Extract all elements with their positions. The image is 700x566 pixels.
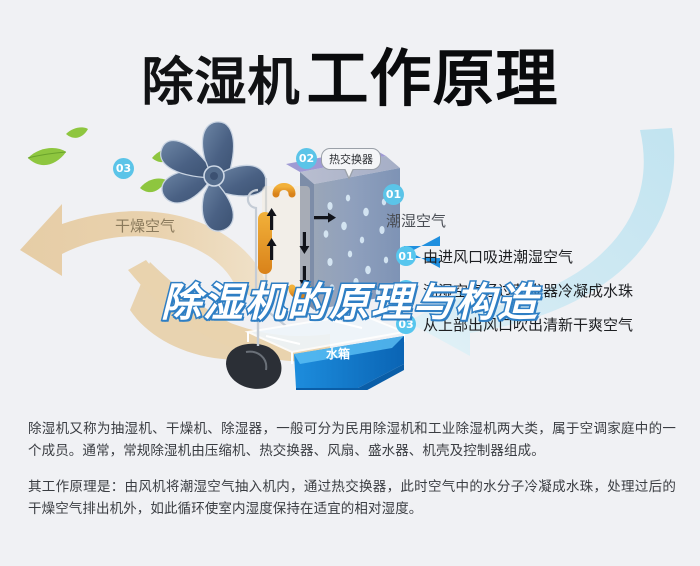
- body-copy: 除湿机又称为抽湿机、干燥机、除湿器，一般可分为民用除湿机和工业除湿机两大类，属于…: [28, 418, 676, 534]
- diagram-badge-02: 02: [296, 148, 317, 169]
- dry-air-label: 干燥空气: [115, 215, 175, 236]
- poster-root: 除湿机工作原理: [0, 0, 700, 566]
- water-tank-label: 水箱: [326, 345, 350, 362]
- humid-air-label: 潮湿空气: [386, 210, 446, 231]
- heat-exchanger-callout: 热交换器: [321, 148, 381, 170]
- page-title-part1: 除湿机: [141, 53, 300, 113]
- steps-list: 01 由进风口吸进潮湿空气 02 潮湿空气经过蒸发器冷凝成水珠 03 从上部出风…: [396, 246, 686, 348]
- step-text-03: 从上部出风口吹出清新干爽空气: [423, 314, 633, 335]
- page-title: 除湿机工作原理: [0, 28, 700, 118]
- step-number-03: 03: [396, 314, 416, 334]
- page-title-part2: 工作原理: [307, 42, 559, 115]
- step-number-02: 02: [396, 280, 416, 300]
- list-item: 01 由进风口吸进潮湿空气: [396, 246, 686, 266]
- paragraph-2: 其工作原理是：由风机将潮湿空气抽入机内，通过热交换器，此时空气中的水分子冷凝成水…: [28, 476, 676, 520]
- step-text-01: 由进风口吸进潮湿空气: [423, 246, 573, 267]
- diagram-badge-03: 03: [113, 158, 134, 179]
- step-text-02: 潮湿空气经过蒸发器冷凝成水珠: [423, 280, 633, 301]
- fan-illustration: [161, 122, 266, 231]
- leaf-icon-group: [28, 127, 178, 192]
- list-item: 03 从上部出风口吹出清新干爽空气: [396, 314, 686, 334]
- step-number-01: 01: [396, 246, 416, 266]
- paragraph-1: 除湿机又称为抽湿机、干燥机、除湿器，一般可分为民用除湿机和工业除湿机两大类，属于…: [28, 418, 676, 462]
- diagram-badge-01: 01: [383, 184, 404, 205]
- list-item: 02 潮湿空气经过蒸发器冷凝成水珠: [396, 280, 686, 300]
